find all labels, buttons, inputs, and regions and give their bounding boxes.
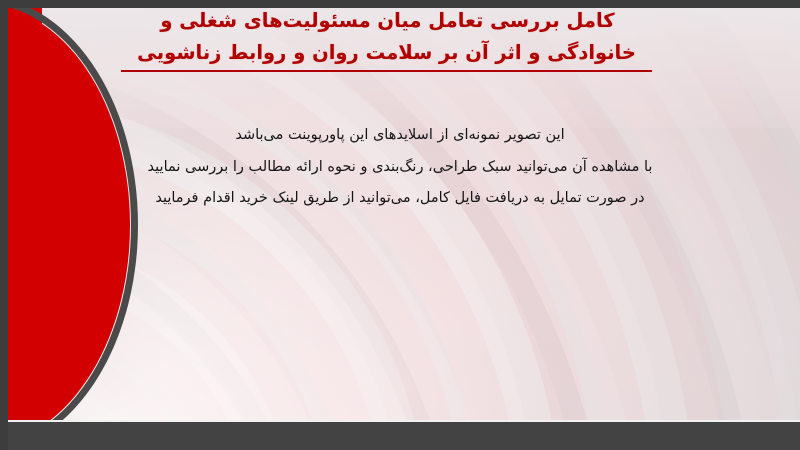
slide-body-text: این تصویر نمونه‌ای از اسلایدهای این پاور… (130, 120, 670, 215)
slide-title-line-2: خانوادگی و اثر آن بر سلامت روان و روابط … (121, 38, 652, 73)
presentation-slide: کامل بررسی تعامل میان مسئولیت‌های شغلی و… (0, 0, 800, 450)
frame-top-band (0, 0, 800, 8)
frame-left-edge (0, 0, 8, 450)
slide-body-line-2: با مشاهده آن می‌توانید سبک طراحی، رنگ‌بن… (130, 152, 670, 184)
slide-title: کامل بررسی تعامل میان مسئولیت‌های شغلی و… (95, 6, 680, 72)
slide-body-line-3: در صورت تمایل به دریافت فایل کامل، می‌تو… (130, 183, 670, 215)
slide-title-line-1: کامل بررسی تعامل میان مسئولیت‌های شغلی و (95, 6, 680, 36)
frame-bottom-band (0, 420, 800, 450)
slide-body-line-1: این تصویر نمونه‌ای از اسلایدهای این پاور… (130, 120, 670, 152)
